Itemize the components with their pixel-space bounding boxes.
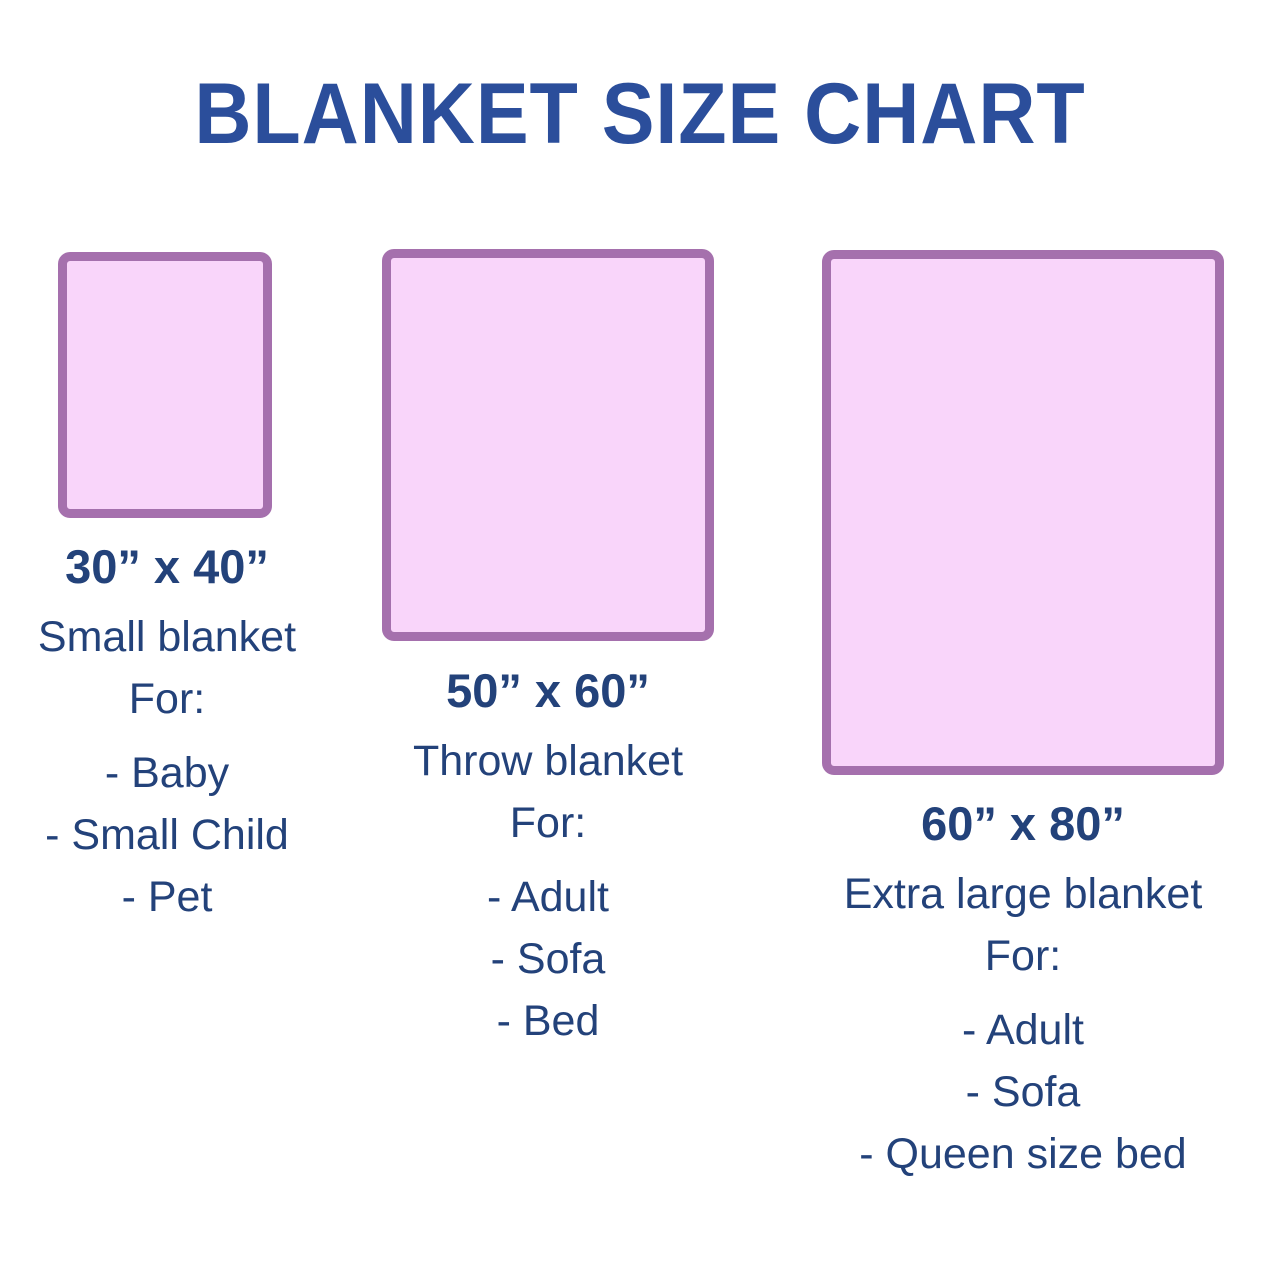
caption-extra-large: 60” x 80” Extra large blanket For: - Adu… [793, 793, 1253, 1185]
blanket-name-throw: Throw blanket [368, 730, 728, 792]
list-item: - Small Child [0, 804, 347, 866]
list-item: - Queen size bed [793, 1123, 1253, 1185]
list-item: - Bed [368, 990, 728, 1052]
list-item: - Pet [0, 866, 347, 928]
list-item: - Adult [793, 999, 1253, 1061]
use-list-throw: - Adult - Sofa - Bed [368, 866, 728, 1052]
caption-small: 30” x 40” Small blanket For: - Baby - Sm… [0, 536, 347, 928]
blanket-name-small: Small blanket [0, 606, 347, 668]
for-label-throw: For: [368, 792, 728, 854]
caption-throw: 50” x 60” Throw blanket For: - Adult - S… [368, 660, 728, 1052]
use-list-extra-large: - Adult - Sofa - Queen size bed [793, 999, 1253, 1185]
dimension-label-small: 30” x 40” [0, 536, 347, 598]
blanket-swatch-extra-large [822, 250, 1224, 775]
size-columns: 30” x 40” Small blanket For: - Baby - Sm… [0, 0, 1280, 1280]
use-list-small: - Baby - Small Child - Pet [0, 742, 347, 928]
dimension-label-throw: 50” x 60” [368, 660, 728, 722]
list-item: - Sofa [368, 928, 728, 990]
list-item: - Sofa [793, 1061, 1253, 1123]
dimension-label-extra-large: 60” x 80” [793, 793, 1253, 855]
blanket-swatch-small [58, 252, 272, 518]
for-label-small: For: [0, 668, 347, 730]
blanket-swatch-throw [382, 249, 714, 641]
list-item: - Baby [0, 742, 347, 804]
for-label-extra-large: For: [793, 925, 1253, 987]
list-item: - Adult [368, 866, 728, 928]
blanket-name-extra-large: Extra large blanket [793, 863, 1253, 925]
